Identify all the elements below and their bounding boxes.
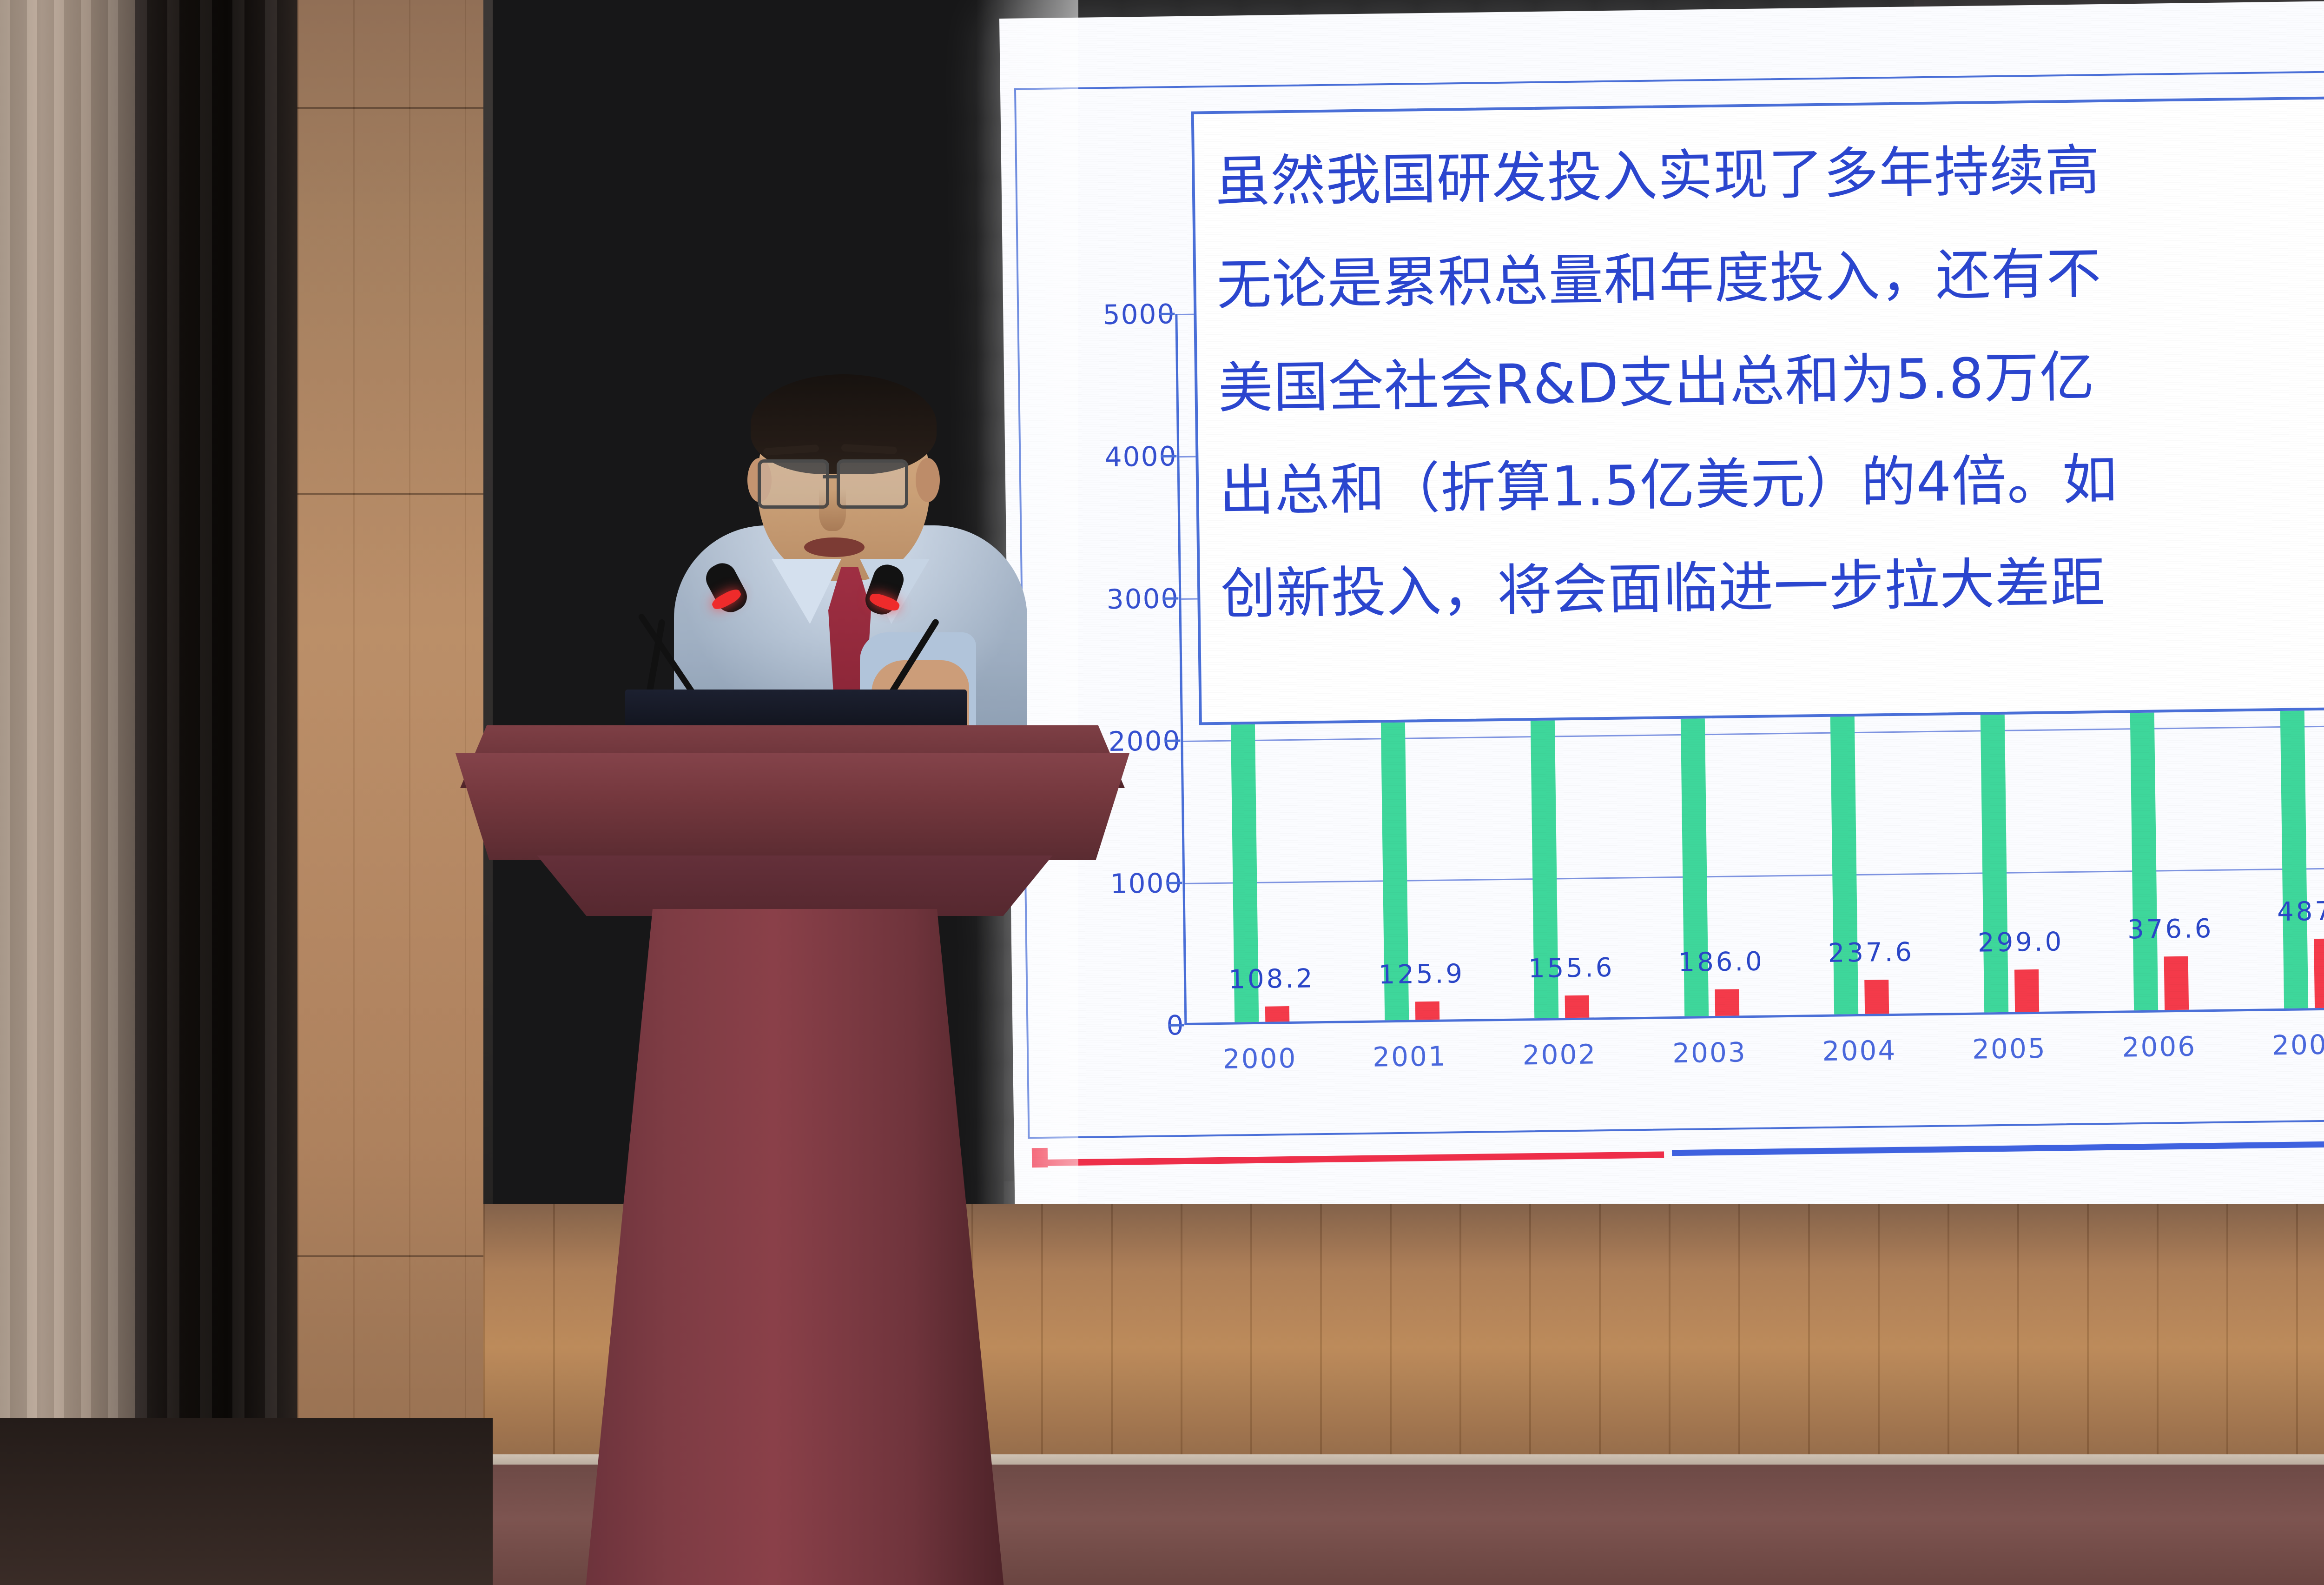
bar-series-cn bbox=[2164, 956, 2189, 1010]
mic-head-left bbox=[701, 558, 752, 617]
podium-front-panel bbox=[456, 753, 1129, 860]
x-axis-tick-label: 2006 bbox=[2103, 1030, 2215, 1063]
bar-series-cn bbox=[1265, 1006, 1289, 1022]
bar-data-label: 299.0 bbox=[1978, 927, 2064, 958]
y-axis-tick bbox=[1159, 313, 1175, 315]
bar-data-label: 125.9 bbox=[1378, 959, 1465, 990]
bar-data-label: 186.0 bbox=[1678, 947, 1764, 978]
overlay-line: 出总和（折算1.5亿美元）的4倍。如 bbox=[1219, 425, 2324, 543]
light-curtain bbox=[0, 0, 139, 1585]
podium-neck bbox=[521, 856, 1069, 916]
glasses-bridge bbox=[823, 475, 839, 478]
glasses-lens-left bbox=[758, 459, 829, 509]
bar-data-label: 108.2 bbox=[1228, 963, 1315, 995]
y-axis-tick bbox=[1161, 455, 1176, 458]
bar-series-cn bbox=[2014, 969, 2039, 1012]
x-axis-tick-label: 2007 bbox=[2253, 1028, 2324, 1061]
speaker-nose bbox=[819, 488, 846, 531]
podium-column bbox=[586, 909, 1004, 1585]
presentation-photo-scene: 中美R&D经费支 010002000300040005000 108.2125.… bbox=[0, 0, 2324, 1585]
speaker-mouth bbox=[804, 537, 865, 557]
glasses-lens-right bbox=[837, 459, 908, 509]
mic-head-right bbox=[862, 561, 908, 618]
x-axis-tick-label: 2004 bbox=[1803, 1034, 1915, 1067]
overlay-line: 无论是累积总量和年度投入，还有不 bbox=[1216, 219, 2324, 337]
x-axis-tick-label: 2002 bbox=[1504, 1038, 1616, 1071]
stage-floor-shadow bbox=[0, 1418, 493, 1585]
y-axis-tick bbox=[1162, 597, 1178, 600]
y-axis-tick bbox=[1164, 740, 1180, 742]
bar-data-label: 376.6 bbox=[2127, 914, 2214, 945]
x-axis-tick-label: 2001 bbox=[1354, 1040, 1466, 1073]
bar-series-cn bbox=[2314, 938, 2324, 1008]
bar-series-cn bbox=[1565, 995, 1590, 1018]
slide-text-overlay: 虽然我国研发投入实现了多年持续高 无论是累积总量和年度投入，还有不 美国全社会R… bbox=[1191, 96, 2324, 725]
overlay-line: 创新投入，将会面临进一步拉大差距 bbox=[1220, 528, 2324, 646]
overlay-line: 虽然我国研发投入实现了多年持续高 bbox=[1215, 115, 2324, 233]
progress-bar-remaining[interactable] bbox=[1672, 1141, 2324, 1156]
projection-screen: 中美R&D经费支 010002000300040005000 108.2125.… bbox=[999, 0, 2324, 1237]
overlay-line: 美国全社会R&D支出总和为5.8万亿 bbox=[1217, 322, 2324, 440]
stage-curtain bbox=[135, 0, 302, 1585]
x-axis-tick-label: 2000 bbox=[1204, 1042, 1316, 1075]
bar-series-cn bbox=[1715, 989, 1739, 1016]
speaker-ear-right bbox=[916, 458, 940, 502]
bar-data-label: 155.6 bbox=[1528, 953, 1615, 984]
bar-series-cn bbox=[1864, 980, 1889, 1014]
x-axis-tick-label: 2003 bbox=[1654, 1036, 1766, 1069]
x-axis-tick-label: 2005 bbox=[1954, 1032, 2066, 1065]
bar-data-label: 237.6 bbox=[1828, 937, 1914, 968]
y-axis-tick bbox=[1166, 882, 1182, 884]
bar-series-cn bbox=[1415, 1001, 1439, 1020]
bar-data-label: 487.7 bbox=[2277, 896, 2324, 927]
y-axis-tick bbox=[1168, 1024, 1184, 1026]
progress-bar-filled[interactable] bbox=[1032, 1151, 1664, 1166]
